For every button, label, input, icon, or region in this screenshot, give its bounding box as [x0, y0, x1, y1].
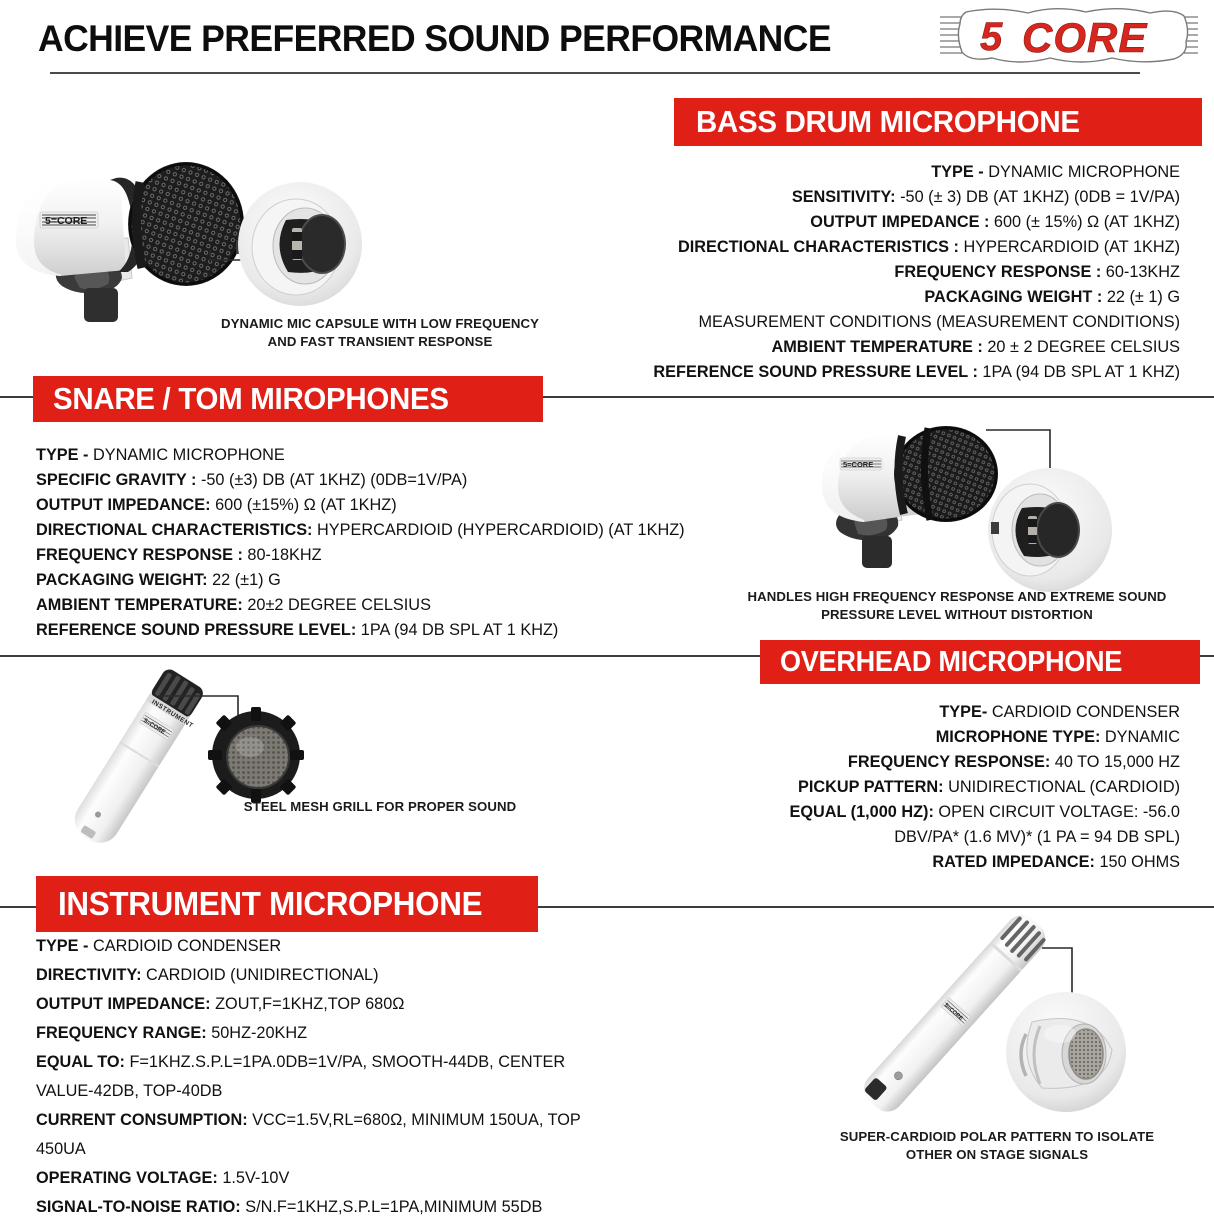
svg-text:5=CORE: 5=CORE	[45, 215, 87, 227]
spec-row: EQUAL (1,000 HZ): OPEN CIRCUIT VOLTAGE: …	[600, 800, 1180, 825]
spec-row: DIRECTIONAL CHARACTERISTICS: HYPERCARDIO…	[36, 518, 736, 543]
spec-row: OUTPUT IMPEDANCE : 600 (± 15%) Ω (AT 1KH…	[600, 210, 1180, 235]
spec-row: OUTPUT IMPEDANCE: ZOUT,F=1KHZ,TOP 680Ω	[36, 990, 626, 1019]
spec-row: SIGNAL-TO-NOISE RATIO: S/N.F=1KHZ,S.P.L=…	[36, 1193, 626, 1222]
spec-row: TYPE- CARDIOID CONDENSER	[600, 700, 1180, 725]
spec-row: MEASUREMENT CONDITIONS (MEASUREMENT COND…	[600, 310, 1180, 335]
section-heading-snare-tom-label: SNARE / TOM MIROPHONES	[53, 381, 449, 417]
spec-row: TYPE - CARDIOID CONDENSER	[36, 932, 626, 961]
spec-row: AMBIENT TEMPERATURE: 20±2 DEGREE CELSIUS	[36, 593, 736, 618]
mic-brand-plate: 5=CORE	[40, 212, 98, 228]
spec-row: REFERENCE SOUND PRESSURE LEVEL: 1PA (94 …	[36, 618, 736, 643]
spec-row: PICKUP PATTERN: UNIDIRECTIONAL (CARDIOID…	[600, 775, 1180, 800]
caption-bass-drum: DYNAMIC MIC CAPSULE WITH LOW FREQUENCY A…	[180, 315, 580, 351]
spec-row: CURRENT CONSUMPTION: VCC=1.5V,RL=680Ω, M…	[36, 1106, 626, 1164]
brand-logo-5core: 5 CORE	[936, 8, 1202, 66]
spec-row: SPECIFIC GRAVITY : -50 (±3) DB (AT 1KHZ)…	[36, 468, 736, 493]
spec-row: TYPE - DYNAMIC MICROPHONE	[36, 443, 736, 468]
caption-line: SUPER-CARDIOID POLAR PATTERN TO ISOLATE	[780, 1128, 1214, 1146]
bass-drum-photo: 5=CORE	[0, 92, 400, 322]
section-heading-bass-drum-label: BASS DRUM MICROPHONE	[696, 104, 1080, 140]
spec-row: FREQUENCY RANGE: 50HZ-20KHZ	[36, 1019, 626, 1048]
instrument-photo: 5=CORE	[800, 900, 1214, 1130]
spec-row: REFERENCE SOUND PRESSURE LEVEL : 1PA (94…	[600, 360, 1180, 385]
caption-overhead: STEEL MESH GRILL FOR PROPER SOUND	[180, 798, 580, 816]
spec-row: FREQUENCY RESPONSE : 80-18KHZ	[36, 543, 736, 568]
spec-row: PACKAGING WEIGHT : 22 (± 1) G	[600, 285, 1180, 310]
infographic-page: ACHIEVE PREFERRED SOUND PERFORMANCE 5 CO…	[0, 0, 1214, 1214]
caption-line: PRESSURE LEVEL WITHOUT DISTORTION	[700, 606, 1214, 624]
spec-row: FREQUENCY RESPONSE : 60-13KHZ	[600, 260, 1180, 285]
caption-line: HANDLES HIGH FREQUENCY RESPONSE AND EXTR…	[700, 588, 1214, 606]
spec-row: FREQUENCY RESPONSE: 40 TO 15,000 HZ	[600, 750, 1180, 775]
brand-logo-word: CORE	[1022, 14, 1148, 61]
spec-row: DBV/PA* (1.6 MV)* (1 PA = 94 DB SPL)	[600, 825, 1180, 850]
spec-list-overhead: TYPE- CARDIOID CONDENSER MICROPHONE TYPE…	[600, 700, 1180, 875]
caption-line: AND FAST TRANSIENT RESPONSE	[180, 333, 580, 351]
caption-instrument: SUPER-CARDIOID POLAR PATTERN TO ISOLATE …	[780, 1128, 1214, 1164]
section-heading-overhead-label: OVERHEAD MICROPHONE	[780, 646, 1122, 679]
spec-row: MICROPHONE TYPE: DYNAMIC	[600, 725, 1180, 750]
spec-row: PACKAGING WEIGHT: 22 (±1) G	[36, 568, 736, 593]
caption-snare-tom: HANDLES HIGH FREQUENCY RESPONSE AND EXTR…	[700, 588, 1214, 624]
section-heading-instrument-label: INSTRUMENT MICROPHONE	[58, 885, 482, 923]
spec-row: TYPE - DYNAMIC MICROPHONE	[600, 160, 1180, 185]
section-heading-instrument: INSTRUMENT MICROPHONE	[36, 876, 538, 932]
page-title: ACHIEVE PREFERRED SOUND PERFORMANCE	[38, 18, 831, 60]
spec-list-snare-tom: TYPE - DYNAMIC MICROPHONE SPECIFIC GRAVI…	[36, 443, 736, 643]
spec-list-bass-drum: TYPE - DYNAMIC MICROPHONE SENSITIVITY: -…	[600, 160, 1180, 385]
overhead-photo: INSTRUMENT 5=CORE	[30, 660, 350, 870]
spec-row: EQUAL TO: F=1KHZ.S.P.L=1PA.0DB=1V/PA, SM…	[36, 1048, 626, 1106]
spec-list-instrument: TYPE - CARDIOID CONDENSER DIRECTIVITY: C…	[36, 932, 626, 1222]
caption-line: OTHER ON STAGE SIGNALS	[780, 1146, 1214, 1164]
spec-row: AMBIENT TEMPERATURE : 20 ± 2 DEGREE CELS…	[600, 335, 1180, 360]
spec-row: OUTPUT IMPEDANCE: 600 (±15%) Ω (AT 1KHZ)	[36, 493, 736, 518]
svg-text:5=CORE: 5=CORE	[843, 460, 873, 469]
caption-line: DYNAMIC MIC CAPSULE WITH LOW FREQUENCY	[180, 315, 580, 333]
brand-logo-digit: 5	[980, 15, 1003, 59]
caption-line: STEEL MESH GRILL FOR PROPER SOUND	[180, 798, 580, 816]
section-heading-overhead: OVERHEAD MICROPHONE	[760, 640, 1200, 684]
mic-brand-plate: 5=CORE	[840, 458, 882, 470]
title-underline	[50, 72, 1140, 74]
spec-row: SENSITIVITY: -50 (± 3) DB (AT 1KHZ) (0DB…	[600, 185, 1180, 210]
spec-row: DIRECTIONAL CHARACTERISTICS : HYPERCARDI…	[600, 235, 1180, 260]
section-heading-snare-tom: SNARE / TOM MIROPHONES	[33, 376, 543, 422]
section-heading-bass-drum: BASS DRUM MICROPHONE	[674, 98, 1202, 146]
spec-row: RATED IMPEDANCE: 150 OHMS	[600, 850, 1180, 875]
snare-tom-photo: 5=CORE	[778, 402, 1214, 592]
spec-row: DIRECTIVITY: CARDIOID (UNIDIRECTIONAL)	[36, 961, 626, 990]
spec-row: OPERATING VOLTAGE: 1.5V-10V	[36, 1164, 626, 1193]
